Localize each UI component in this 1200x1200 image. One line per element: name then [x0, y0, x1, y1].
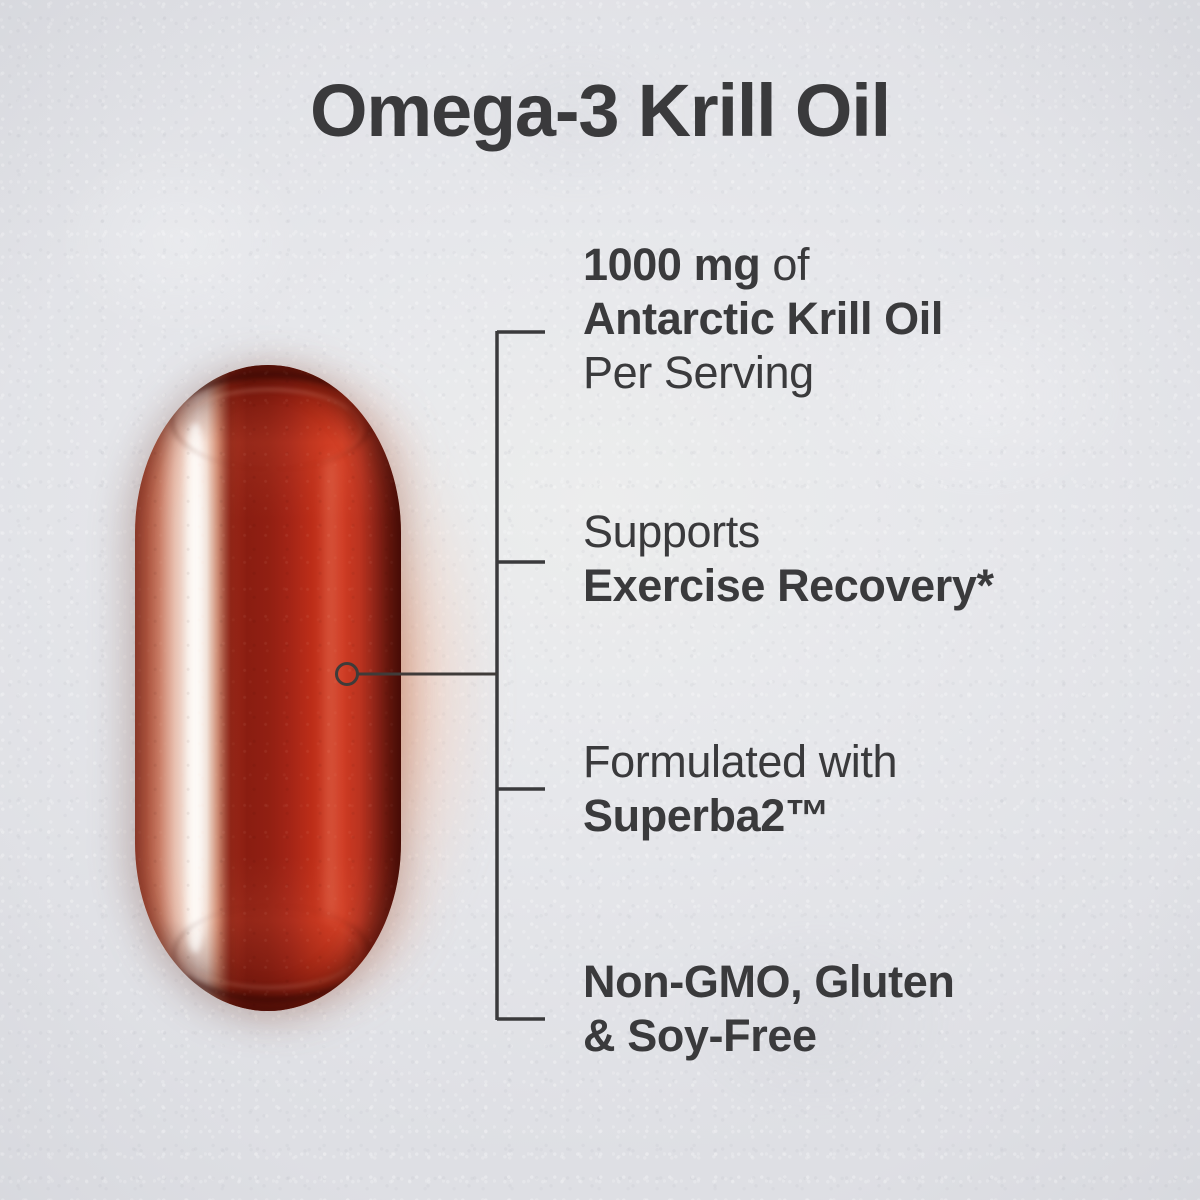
callout-line: Supports	[583, 505, 994, 559]
product-infographic: Omega-3 Krill Oil	[0, 0, 1200, 1200]
pointer-circle-icon	[337, 664, 358, 685]
callout-line: Formulated with	[583, 735, 897, 789]
callout-dosage: 1000 mg ofAntarctic Krill OilPer Serving	[583, 238, 943, 400]
callout-line: & Soy-Free	[583, 1009, 954, 1063]
callout-text-bold: Non-GMO, Gluten	[583, 956, 954, 1007]
callout-text-bold: & Soy-Free	[583, 1010, 817, 1061]
callout-certifications: Non-GMO, Gluten& Soy-Free	[583, 955, 954, 1063]
callout-benefit: SupportsExercise Recovery*	[583, 505, 994, 613]
callout-line: 1000 mg of	[583, 238, 943, 292]
callout-line: Antarctic Krill Oil	[583, 292, 943, 346]
callout-text-bold: 1000 mg	[583, 239, 760, 290]
callout-text-regular: of	[760, 239, 809, 290]
callout-ingredient-brand: Formulated withSuperba2™	[583, 735, 897, 843]
callout-text-regular: Per Serving	[583, 347, 814, 398]
callout-text-bold: Antarctic Krill Oil	[583, 293, 943, 344]
callout-text-bold: Exercise Recovery*	[583, 560, 994, 611]
callout-text-regular: Supports	[583, 506, 760, 557]
callout-line: Non-GMO, Gluten	[583, 955, 954, 1009]
callout-text-regular: Formulated with	[583, 736, 897, 787]
callout-text-bold: Superba2™	[583, 790, 829, 841]
callout-line: Superba2™	[583, 789, 897, 843]
callout-line: Exercise Recovery*	[583, 559, 994, 613]
callout-line: Per Serving	[583, 346, 943, 400]
